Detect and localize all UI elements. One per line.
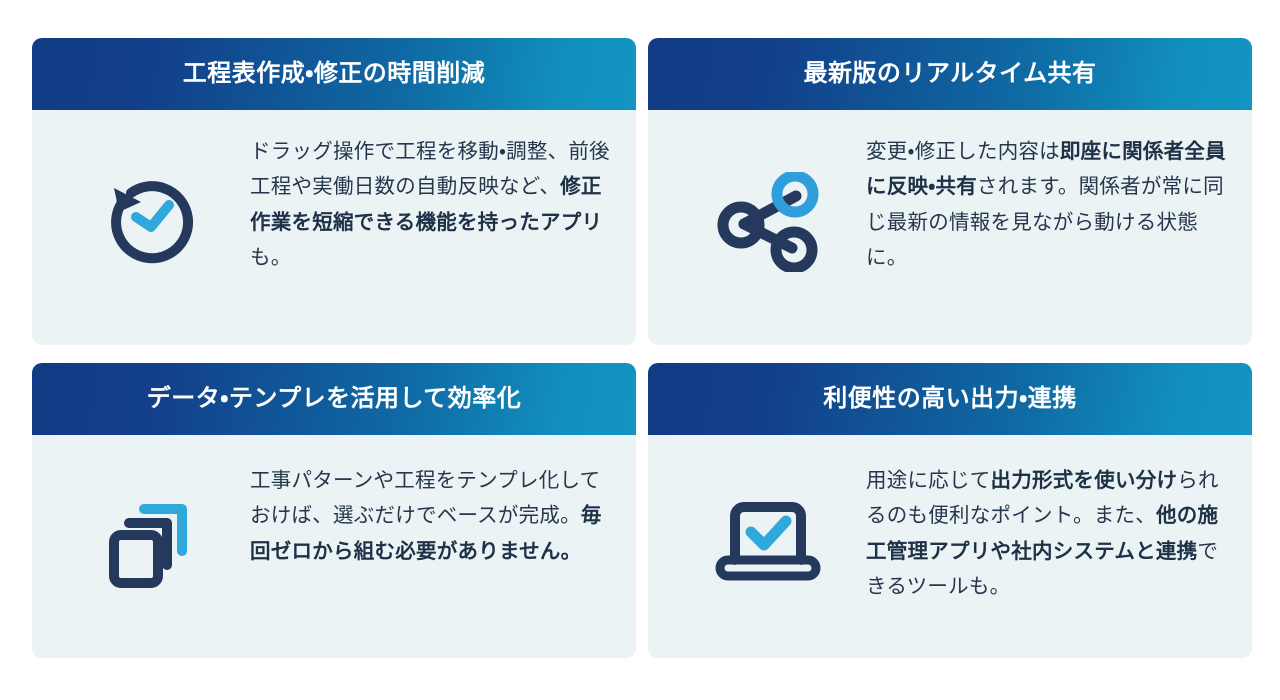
feature-card-realtime-share: 最新版のリアルタイム共有 変更・修正した内容は即座に関係者全員に反映・共有されま… (648, 38, 1252, 345)
card-body: 変更・修正した内容は即座に関係者全員に反映・共有されます。関係者が常に同じ最新の… (648, 110, 1252, 345)
card-title: 工程表作成・修正の時間削減 (183, 62, 485, 86)
card-title: 利便性の高い出力・連携 (823, 387, 1076, 411)
card-body: ドラッグ操作で工程を移動・調整、前後工程や実働日数の自動反映など、修正作業を短縮… (32, 110, 636, 345)
feature-card-time-reduction: 工程表作成・修正の時間削減 ドラッグ操作で工程を移動・調整、前後工程や実働日数の… (32, 38, 636, 345)
card-description: 工事パターンや工程をテンプレ化しておけば、選ぶだけでベースが完成。毎回ゼロから組… (250, 461, 612, 569)
card-description: 変更・修正した内容は即座に関係者全員に反映・共有されます。関係者が常に同じ最新の… (866, 132, 1228, 275)
card-description: 用途に応じて出力形式を使い分けられるのも便利なポイント。また、他の施工管理アプリ… (866, 461, 1228, 604)
feature-card-grid: 工程表作成・修正の時間削減 ドラッグ操作で工程を移動・調整、前後工程や実働日数の… (32, 38, 1248, 658)
clock-refresh-icon (54, 132, 250, 325)
card-description: ドラッグ操作で工程を移動・調整、前後工程や実働日数の自動反映など、修正作業を短縮… (250, 132, 612, 275)
card-title: 最新版のリアルタイム共有 (803, 62, 1096, 86)
card-header: 工程表作成・修正の時間削減 (32, 38, 636, 110)
card-header: 利便性の高い出力・連携 (648, 363, 1252, 435)
copy-stack-icon (54, 461, 250, 638)
laptop-check-icon (670, 461, 866, 638)
feature-card-template-efficiency: データ・テンプレを活用して効率化 工事パターンや工程をテンプレ化しておけば、選ぶ… (32, 363, 636, 658)
card-body: 工事パターンや工程をテンプレ化しておけば、選ぶだけでベースが完成。毎回ゼロから組… (32, 435, 636, 658)
card-header: データ・テンプレを活用して効率化 (32, 363, 636, 435)
card-body: 用途に応じて出力形式を使い分けられるのも便利なポイント。また、他の施工管理アプリ… (648, 435, 1252, 658)
share-nodes-icon (670, 132, 866, 325)
card-title: データ・テンプレを活用して効率化 (147, 387, 521, 411)
feature-card-output-integration: 利便性の高い出力・連携 用途に応じて出力形式を使い分けられるのも便利なポイント。… (648, 363, 1252, 658)
card-header: 最新版のリアルタイム共有 (648, 38, 1252, 110)
feature-cards-page: 工程表作成・修正の時間削減 ドラッグ操作で工程を移動・調整、前後工程や実働日数の… (0, 0, 1280, 700)
